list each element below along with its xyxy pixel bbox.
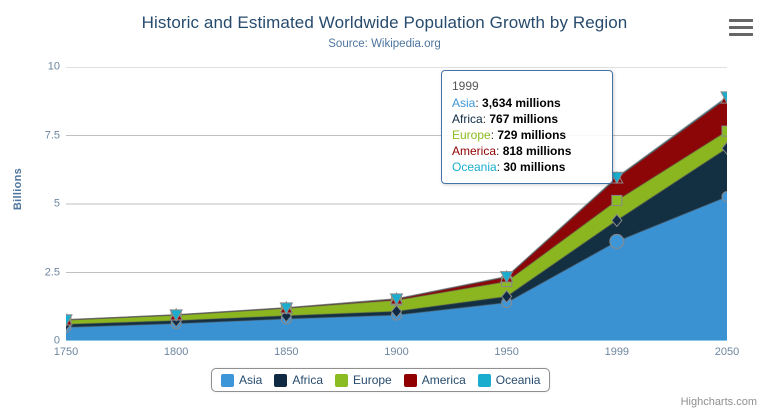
legend-item-label: Europe [353, 374, 392, 387]
legend-swatch-icon [221, 374, 234, 387]
tooltip-series-name: America [452, 144, 496, 158]
y-axis-title: Billions [12, 159, 24, 219]
tooltip-series-name: Asia [452, 96, 475, 110]
marker-square [612, 195, 622, 205]
hamburger-menu-icon[interactable] [727, 17, 755, 41]
x-axis-tick-label: 1800 [141, 346, 211, 359]
legend-item-oceania[interactable]: Oceania [478, 374, 541, 387]
tooltip-series-value: 818 millions [503, 144, 572, 158]
chart-legend: AsiaAfricaEuropeAmericaOceania [211, 368, 550, 392]
tooltip-series-value: 729 millions [497, 128, 566, 142]
tooltip-separator: : [496, 144, 503, 158]
tooltip-row: America: 818 millions [452, 143, 602, 159]
tooltip-header: 1999 [452, 78, 602, 95]
y-axis-tick-label: 0 [20, 336, 60, 347]
y-axis-tick-label: 10 [20, 62, 60, 73]
tooltip-series-value: 767 millions [489, 112, 558, 126]
legend-swatch-icon [335, 374, 348, 387]
legend-swatch-icon [274, 374, 287, 387]
tooltip-row: Africa: 767 millions [452, 111, 602, 127]
chart-subtitle: Source: Wikipedia.org [0, 37, 769, 51]
chart-plot-svg [66, 67, 727, 341]
hamburger-bar [729, 33, 753, 36]
hamburger-bar [729, 19, 753, 22]
legend-item-label: America [422, 374, 466, 387]
legend-item-europe[interactable]: Europe [335, 374, 392, 387]
hovered-marker [610, 234, 624, 248]
x-axis-tick-label: 1999 [582, 346, 652, 359]
x-axis-tick-label: 1900 [362, 346, 432, 359]
chart-tooltip: 1999 Asia: 3,634 millionsAfrica: 767 mil… [441, 70, 613, 184]
y-axis-tick-label: 7.5 [20, 130, 60, 141]
legend-item-label: Oceania [496, 374, 541, 387]
tooltip-series-value: 3,634 millions [482, 96, 561, 110]
legend-item-label: Asia [239, 374, 262, 387]
x-axis-tick-labels: 1750180018501900195019992050 [66, 346, 727, 362]
x-axis-tick-label: 1950 [472, 346, 542, 359]
legend-item-america[interactable]: America [404, 374, 466, 387]
tooltip-series-name: Europe [452, 128, 491, 142]
data-point-marker [722, 126, 727, 136]
y-axis-tick-label: 2.5 [20, 267, 60, 278]
data-point-marker [612, 195, 622, 205]
tooltip-row: Europe: 729 millions [452, 127, 602, 143]
x-axis-tick-label: 2050 [692, 346, 762, 359]
legend-item-africa[interactable]: Africa [274, 374, 323, 387]
tooltip-rows: Asia: 3,634 millionsAfrica: 767 millions… [452, 95, 602, 175]
legend-swatch-icon [404, 374, 417, 387]
hamburger-bar [729, 26, 753, 29]
tooltip-series-value: 30 millions [503, 160, 565, 174]
legend-swatch-icon [478, 374, 491, 387]
legend-item-asia[interactable]: Asia [221, 374, 262, 387]
tooltip-separator: : [475, 96, 482, 110]
plot-area [66, 67, 727, 341]
tooltip-series-name: Africa [452, 112, 483, 126]
credits-label: Highcharts.com [681, 396, 757, 408]
y-axis-tick-label: 5 [20, 199, 60, 210]
x-axis-tick-label: 1850 [251, 346, 321, 359]
x-axis-tick-label: 1750 [31, 346, 101, 359]
tooltip-series-name: Oceania [452, 160, 497, 174]
legend-item-label: Africa [292, 374, 323, 387]
page-title: Historic and Estimated Worldwide Populat… [0, 13, 769, 33]
marker-square [722, 126, 727, 136]
tooltip-row: Asia: 3,634 millions [452, 95, 602, 111]
tooltip-row: Oceania: 30 millions [452, 159, 602, 175]
highcharts-container: Historic and Estimated Worldwide Populat… [0, 0, 769, 416]
